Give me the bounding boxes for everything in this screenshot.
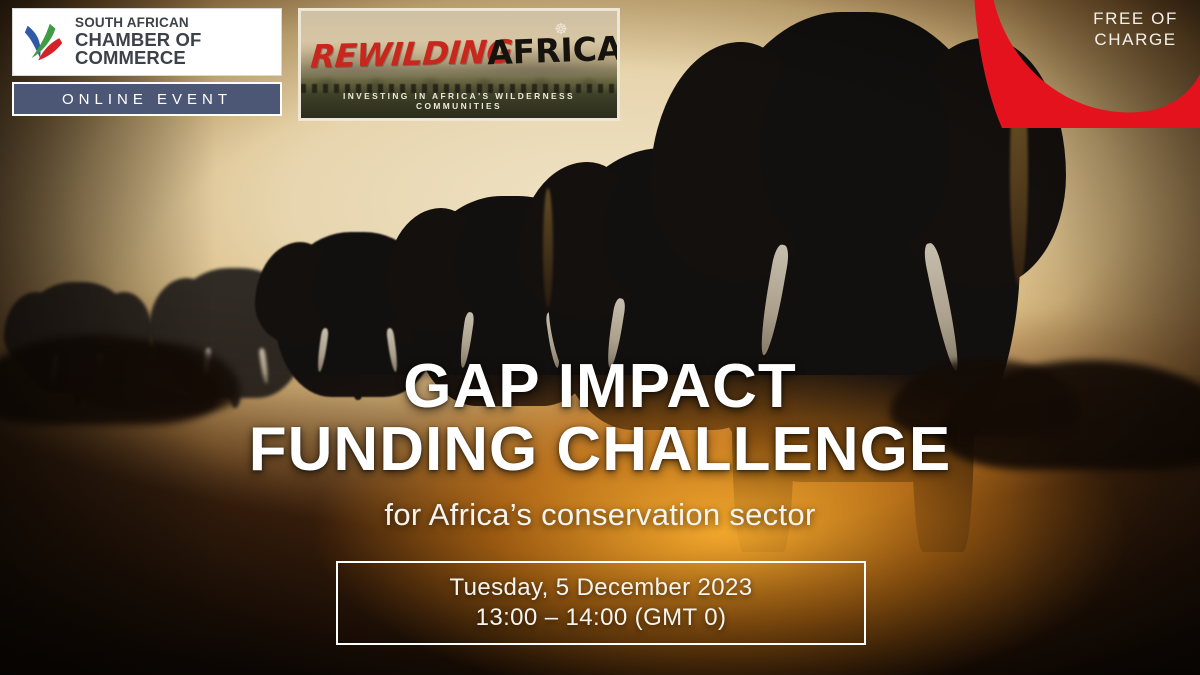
free-of-charge-badge: FREE OF CHARGE <box>1093 8 1178 51</box>
event-date: Tuesday, 5 December 2023 <box>449 574 752 602</box>
subtitle: for Africa’s conservation sector <box>0 497 1200 533</box>
free-of-charge-line2: CHARGE <box>1093 29 1178 50</box>
chamber-line2: CHAMBER OF COMMERCE <box>75 31 271 69</box>
chamber-logo-card: SOUTH AFRICAN CHAMBER OF COMMERCE <box>12 8 282 76</box>
chamber-swoosh-logo-icon <box>21 19 67 65</box>
free-of-charge-line1: FREE OF <box>1093 8 1178 29</box>
online-event-badge: ONLINE EVENT <box>12 82 282 116</box>
logo-row: SOUTH AFRICAN CHAMBER OF COMMERCE ONLINE… <box>12 8 620 121</box>
rewilding-wordmark: REWILDING <box>309 32 514 75</box>
rewilding-bird-icon: ☸ <box>553 23 569 37</box>
chamber-line1: SOUTH AFRICAN <box>75 16 271 30</box>
chamber-logo-block: SOUTH AFRICAN CHAMBER OF COMMERCE ONLINE… <box>12 8 282 116</box>
page-title: GAP IMPACT FUNDING CHALLENGE <box>0 358 1200 478</box>
rewilding-africa-logo: REWILDING AFRICA ☸ INVESTING IN AFRICA'S… <box>298 8 620 121</box>
headline-line2: FUNDING CHALLENGE <box>0 421 1200 478</box>
rewilding-tagline: INVESTING IN AFRICA'S WILDERNESS COMMUNI… <box>301 91 617 111</box>
event-time: 13:00 – 14:00 (GMT 0) <box>476 604 727 632</box>
chamber-logo-text: SOUTH AFRICAN CHAMBER OF COMMERCE <box>75 16 271 68</box>
event-date-box: Tuesday, 5 December 2023 13:00 – 14:00 (… <box>336 561 866 645</box>
headline-line1: GAP IMPACT <box>0 358 1200 415</box>
event-poster: FREE OF CHARGE SOUTH AFRICAN CHAMBER OF … <box>0 0 1200 675</box>
